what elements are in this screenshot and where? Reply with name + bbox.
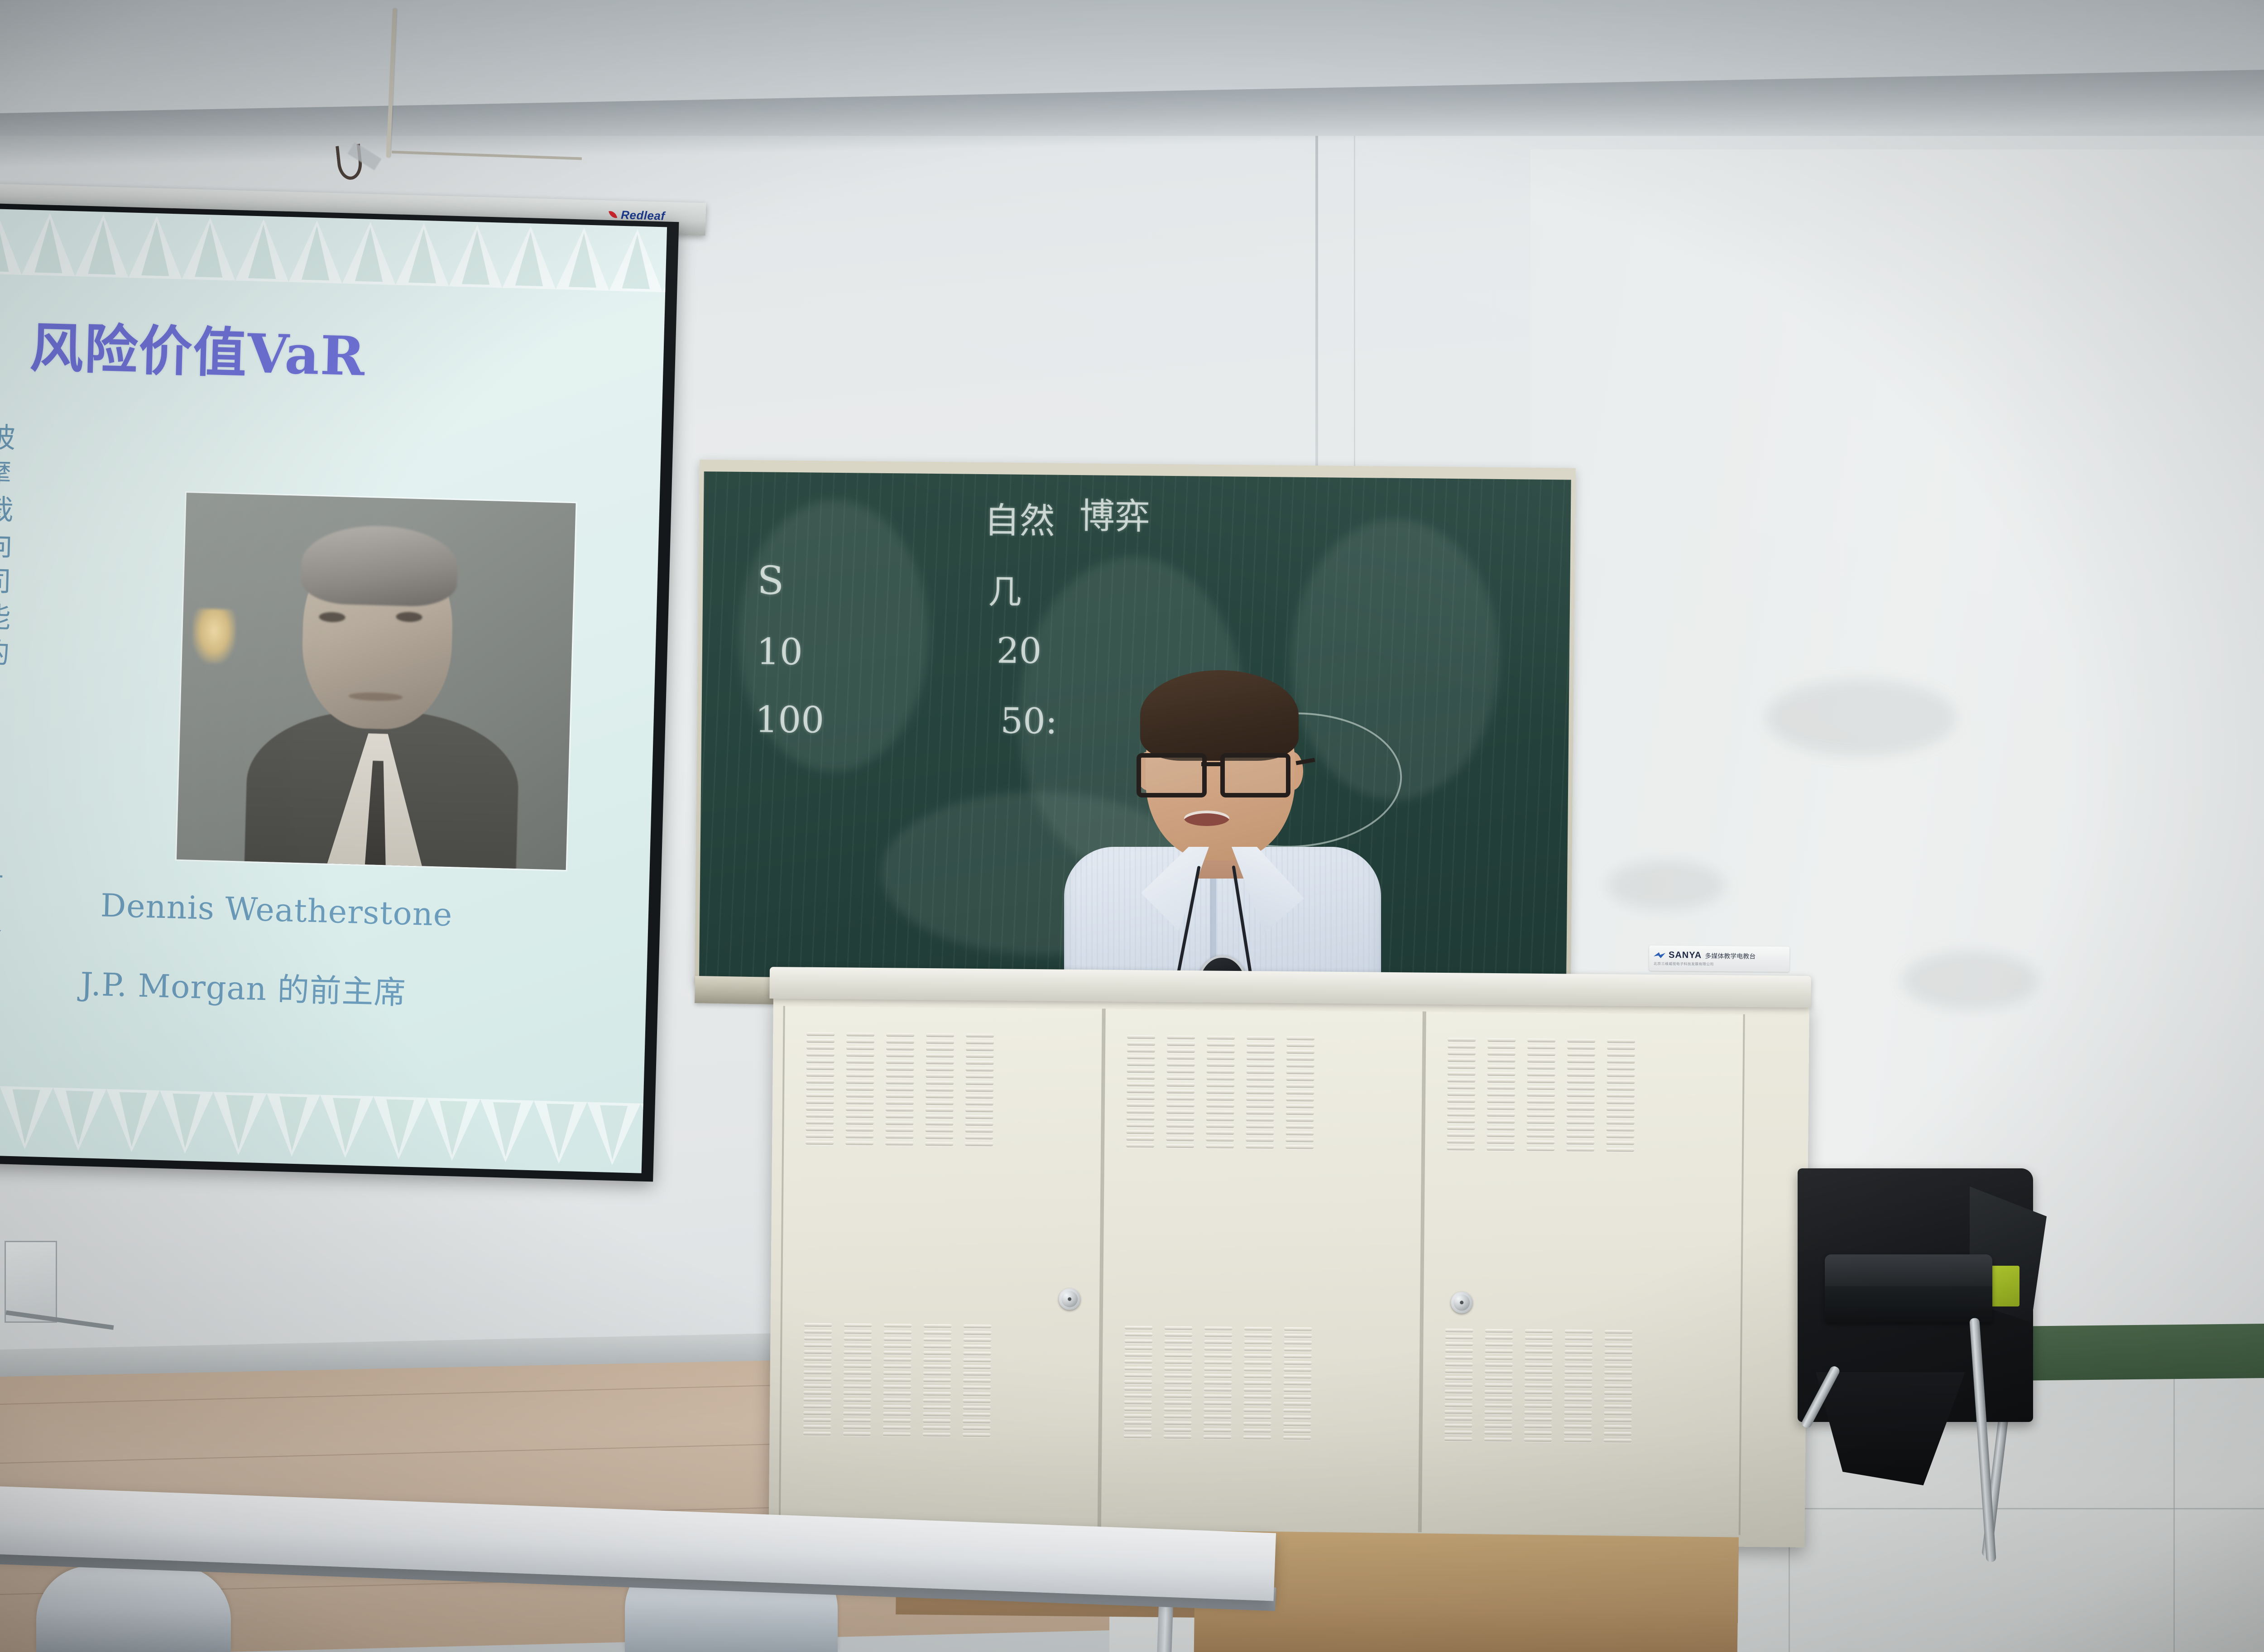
vent-bank-lower [1123, 1326, 1312, 1440]
vent-bank-lower [1444, 1329, 1632, 1443]
briefcase-flap [1825, 1254, 1992, 1286]
foreground-chair [36, 1566, 231, 1652]
podium-fine-print: 北京三维威视电子科技发展有限公司 [1654, 961, 1785, 968]
screen-brand-logo: Redleaf [609, 208, 665, 221]
slide-surface: ）：风险价值VaR 天被 P.摩 总裁 ，向 公司 可能 名的 针对 以及 [0, 208, 667, 1173]
vent-bank-upper [1447, 1038, 1635, 1152]
slide-left-column: 天被 P.摩 总裁 ，向 公司 可能 名的 [0, 418, 90, 674]
slide-left-column-lower: 针对 以及 [0, 862, 69, 941]
wall-scuff [1902, 951, 2038, 1010]
slide-border-bottom [0, 1082, 667, 1169]
projection-screen[interactable]: ）：风险价值VaR 天被 P.摩 总裁 ，向 公司 可能 名的 针对 以及 [0, 203, 679, 1181]
screen-brand-label: Redleaf [621, 209, 665, 222]
swoosh-icon [1654, 952, 1665, 958]
podium-lock-left[interactable] [1059, 1288, 1080, 1310]
portrait-hair [300, 524, 459, 607]
slide-border-top [0, 208, 667, 296]
slide-caption-name: Dennis Weatherstone [100, 887, 599, 937]
chalk-note: 10 [756, 630, 803, 673]
classroom-scene: Redleaf ）：风险价值VaR 天被 P.摩 [0, 0, 2264, 1652]
lecturer-hair [1140, 670, 1299, 761]
vent-bank-upper [806, 1032, 994, 1147]
podium-body [769, 995, 1809, 1547]
vent-bank-lower [803, 1323, 992, 1437]
chalk-note: 博弈 [1079, 488, 1150, 539]
lecturer-mouth [1184, 811, 1229, 826]
vent-bank-upper [1126, 1035, 1314, 1149]
wall-electrical-box [5, 1241, 57, 1323]
slide-portrait-photo [177, 493, 576, 870]
podium-lock-right[interactable] [1451, 1292, 1473, 1313]
av-podium-cabinet[interactable]: SANYA 多媒体教学电教台 北京三维威视电子科技发展有限公司 [770, 967, 1811, 1540]
red-leaf-icon [609, 210, 617, 219]
chair-with-coat [1789, 1168, 2069, 1571]
slide-caption-role: J.P. Morgan 的前主席 [80, 959, 624, 1019]
chalk-note: 50: [1000, 701, 1057, 742]
lecturer [1050, 666, 1395, 1010]
podium-door-left[interactable] [779, 1006, 1104, 1529]
podium-brand-name: SANYA [1669, 950, 1702, 961]
slide-title: ）：风险价值VaR [0, 302, 538, 395]
podium-door-center[interactable] [1099, 1008, 1425, 1532]
chalk-note: 20 [997, 630, 1042, 672]
wall-scuff [1607, 860, 1725, 910]
chalk-note: 100 [755, 698, 825, 741]
portrait-lamp [192, 608, 236, 664]
podium-door-right[interactable] [1420, 1012, 1745, 1535]
eyeglasses-icon [1137, 749, 1304, 795]
chalk-note: 自然 [984, 492, 1055, 543]
podium-product-name: 多媒体教学电教台 [1705, 951, 1756, 960]
podium-brand-label: SANYA 多媒体教学电教台 北京三维威视电子科技发展有限公司 [1649, 946, 1789, 972]
chalk-note: 几 [988, 565, 1022, 614]
coat-drape [1816, 1372, 1965, 1485]
wall-scuff [1766, 679, 1956, 756]
chalk-note: S [757, 558, 784, 604]
